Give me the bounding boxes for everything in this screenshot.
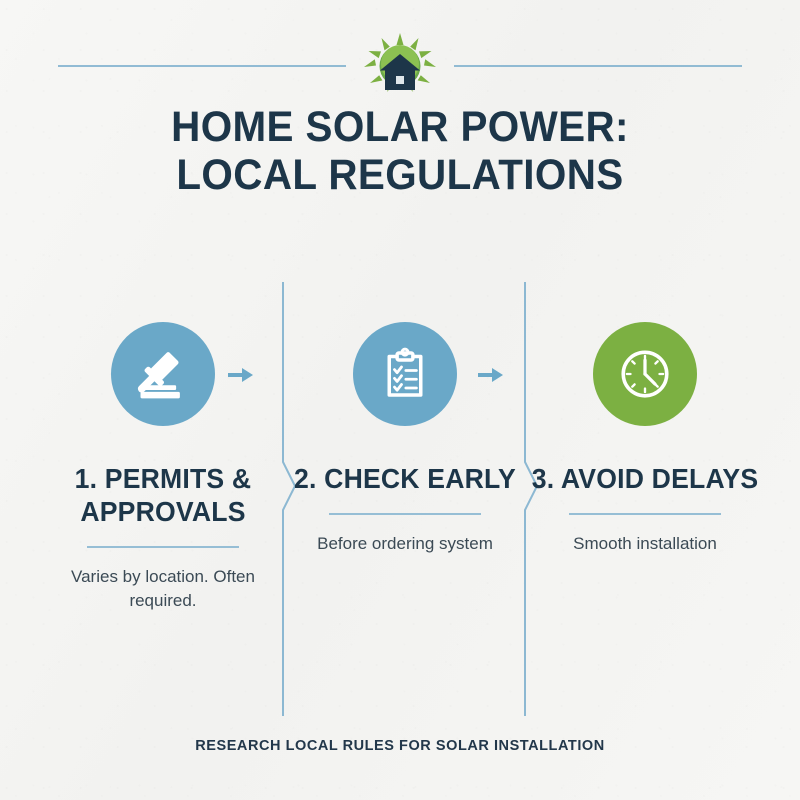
page-title-line-2: LOCAL REGULATIONS [24,151,776,199]
step-2-rule [329,513,481,515]
header-rule-right [454,65,742,67]
step-2-heading: 2. CHECK EARLY [290,462,520,495]
page-title: HOME SOLAR POWER: LOCAL REGULATIONS [24,103,776,199]
step-2-body: Before ordering system [284,532,526,556]
step-1-rule [87,546,239,548]
solar-home-sun-icon [363,33,437,97]
step-1-heading: 1. PERMITS & APPROVALS [48,462,278,528]
step-1: 1. PERMITS & APPROVALS Varies by locatio… [42,322,284,613]
step-3-heading: 3. AVOID DELAYS [530,462,760,495]
infographic-canvas: HOME SOLAR POWER: LOCAL REGULATIONS [0,0,800,800]
step-3-rule [569,513,721,515]
header-rule-left [58,65,346,67]
clock-icon [593,322,697,426]
step-3: 3. AVOID DELAYS Smooth installation [524,322,766,556]
clipboard-checklist-icon [353,322,457,426]
step-1-body: Varies by location. Often required. [42,565,284,613]
page-title-line-1: HOME SOLAR POWER: [24,103,776,151]
gavel-icon [111,322,215,426]
footer-caption: RESEARCH LOCAL RULES FOR SOLAR INSTALLAT… [0,738,800,754]
step-3-body: Smooth installation [524,532,766,556]
step-2: 2. CHECK EARLY Before ordering system [284,322,526,556]
